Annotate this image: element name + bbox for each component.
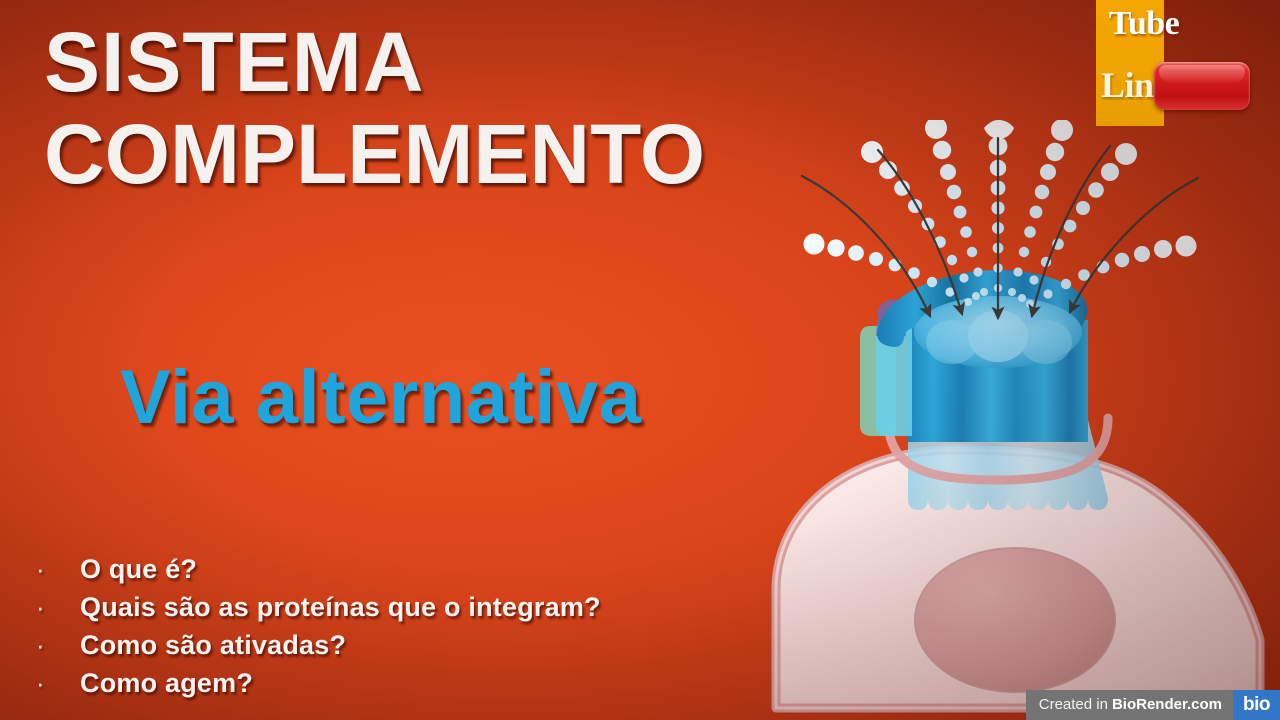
subtitle: Via alternativa — [120, 356, 642, 440]
watermark-brand: BioRender.com — [1112, 690, 1222, 720]
slide-canvas: SISTEMA COMPLEMENTO Via alternativa · O … — [0, 0, 1280, 720]
title-line-2: COMPLEMENTO — [44, 108, 804, 200]
bead-chain — [1018, 143, 1137, 302]
list-item-label: Quais são as proteínas que o integram? — [80, 590, 601, 624]
bullet-marker-icon: · — [28, 552, 80, 586]
bead-chain — [925, 120, 988, 296]
cell-nucleus — [915, 548, 1115, 692]
biorender-badge-icon: bio — [1233, 690, 1280, 720]
membrane-attack-complex-illustration — [760, 120, 1280, 720]
topic-list: · O que é? · Quais são as proteínas que … — [28, 552, 788, 704]
logo-tube-badge — [1154, 62, 1250, 110]
linfotube-logo[interactable]: Linfo Tube — [1096, 0, 1252, 126]
list-item-label: Como são ativadas? — [80, 628, 346, 662]
bead-chain — [1008, 120, 1073, 296]
title-line-1: SISTEMA — [44, 16, 804, 108]
watermark-prefix: Created in — [1039, 690, 1108, 720]
list-item: · Como são ativadas? — [28, 628, 788, 666]
bead-chain — [861, 141, 980, 300]
bullet-marker-icon: · — [28, 628, 80, 662]
logo-tube-text: Tube — [1096, 0, 1192, 48]
bullet-marker-icon: · — [28, 590, 80, 624]
illustration-svg — [760, 120, 1280, 720]
biorender-watermark: Created in BioRender.com bio — [1026, 690, 1280, 720]
watermark-label: Created in BioRender.com — [1026, 690, 1233, 720]
list-item-label: O que é? — [80, 552, 197, 586]
list-item: · Quais são as proteínas que o integram? — [28, 590, 788, 628]
page-title: SISTEMA COMPLEMENTO — [44, 16, 804, 200]
list-item: · Como agem? — [28, 666, 788, 704]
list-item-label: Como agem? — [80, 666, 253, 700]
bullet-marker-icon: · — [28, 666, 80, 700]
list-item: · O que é? — [28, 552, 788, 590]
